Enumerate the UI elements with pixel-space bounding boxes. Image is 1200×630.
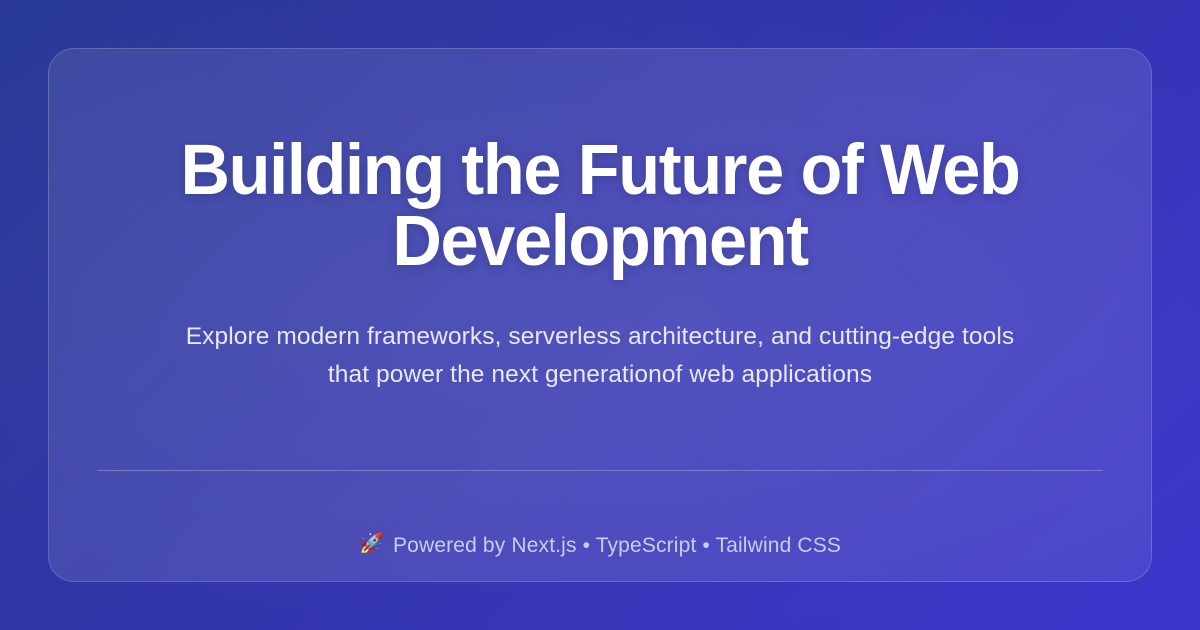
- og-image-canvas: Building the Future of Web Development E…: [0, 0, 1200, 630]
- page-title: Building the Future of Web Development: [115, 135, 1086, 277]
- footer-credits: 🚀 Powered by Next.js • TypeScript • Tail…: [359, 471, 841, 581]
- page-subtitle: Explore modern frameworks, serverless ar…: [165, 318, 1035, 393]
- footer-credits-label: Powered by Next.js • TypeScript • Tailwi…: [393, 535, 841, 556]
- rocket-icon: 🚀: [359, 534, 384, 554]
- hero-card: Building the Future of Web Development E…: [48, 48, 1152, 582]
